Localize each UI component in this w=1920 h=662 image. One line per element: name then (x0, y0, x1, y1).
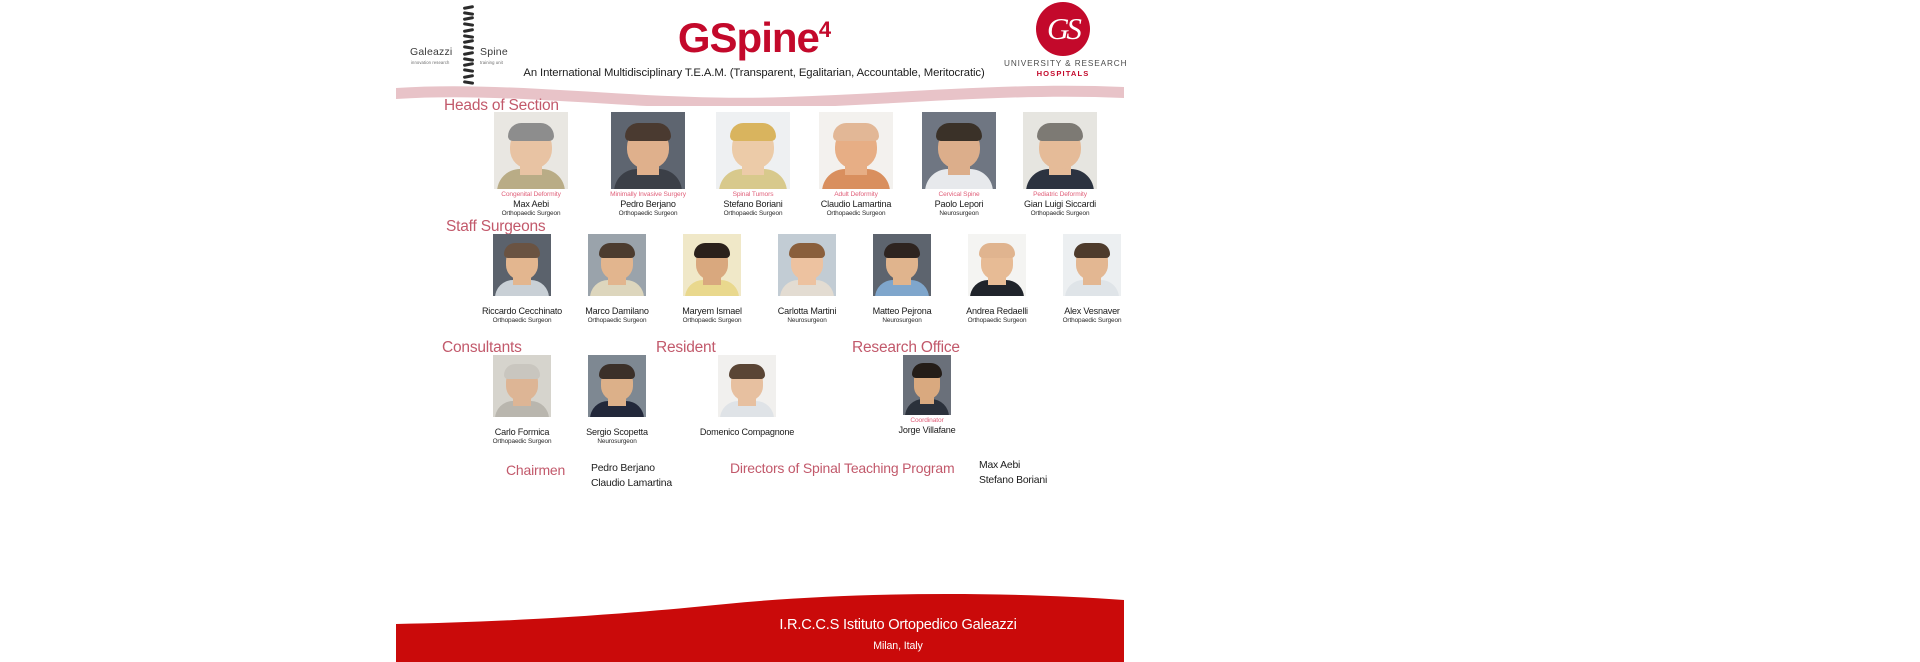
portrait-hair (508, 123, 554, 141)
portrait-hair (599, 243, 635, 258)
portrait-photo (588, 355, 646, 417)
portrait-photo (922, 112, 996, 189)
person-name: Jorge Villafane (866, 425, 988, 435)
portrait-hair (730, 123, 776, 141)
galeazzi-tagline: innovation research (411, 60, 449, 65)
page-title-text: GSpine (678, 14, 819, 61)
university-research-hospitals-logo: GS UNIVERSITY & RESEARCH HOSPITALS (1004, 2, 1122, 82)
portrait-photo (1023, 112, 1097, 189)
directors-names: Max Aebi Stefano Boriani (979, 459, 1047, 488)
chairmen-label: Chairmen (506, 462, 565, 478)
galeazzi-word: Galeazzi (410, 46, 452, 58)
person-specialty: Orthopaedic Surgeon (1026, 317, 1158, 324)
person-specialty: Orthopaedic Surgeon (986, 210, 1134, 217)
spine-tagline: training unit (480, 60, 503, 65)
person-name: Domenico Compagnone (681, 427, 813, 437)
directors-label: Directors of Spinal Teaching Program (730, 460, 954, 476)
person-card[interactable]: Pediatric DeformityGian Luigi SiccardiOr… (986, 112, 1134, 217)
portrait-photo (1063, 234, 1121, 296)
portrait-photo (683, 234, 741, 296)
portrait-hair (625, 123, 671, 141)
spine-vertebrae-icon (461, 6, 475, 84)
portrait-hair (912, 363, 942, 377)
portrait-hair (1037, 123, 1083, 141)
person-role (1026, 298, 1158, 305)
portrait-photo (493, 355, 551, 417)
portrait-hair (694, 243, 730, 258)
person-card[interactable]: Sergio ScopettaNeurosurgeon (551, 355, 683, 445)
portrait-hair (789, 243, 825, 258)
page-title: GSpine4 (514, 4, 994, 64)
title-block: GSpine4 An International Multidisciplina… (514, 4, 994, 79)
person-role (681, 419, 813, 426)
person-card[interactable]: CoordinatorJorge Villafane (866, 355, 988, 435)
person-role: Pediatric Deformity (986, 191, 1134, 198)
chairmen-name: Pedro Berjano (591, 462, 672, 477)
portrait-hair (504, 243, 540, 258)
portrait-hair (504, 364, 540, 379)
person-card[interactable]: Domenico Compagnone (681, 355, 813, 437)
person-role (551, 419, 683, 426)
portrait-hair (833, 123, 879, 141)
page-title-superscript: 4 (819, 17, 830, 42)
portrait-hair (884, 243, 920, 258)
portrait-photo (494, 112, 568, 189)
spine-word: Spine (480, 46, 508, 58)
poster-header: Galeazzi Spine innovation research train… (396, 0, 1124, 92)
portrait-photo (493, 234, 551, 296)
footer-text: I.R.C.C.S Istituto Ortopedico Galeazzi M… (698, 617, 1098, 652)
footer-location: Milan, Italy (698, 640, 1098, 652)
portrait-photo (778, 234, 836, 296)
portrait-photo (903, 355, 951, 415)
poster-sheet: Galeazzi Spine innovation research train… (396, 0, 1124, 662)
page-subtitle: An International Multidisciplinary T.E.A… (514, 67, 994, 79)
gs-monogram-icon: GS (1036, 2, 1090, 56)
portrait-hair (729, 364, 765, 379)
chairmen-name: Claudio Lamartina (591, 477, 672, 492)
university-logo-line2: HOSPITALS (1004, 69, 1122, 78)
chairmen-names: Pedro Berjano Claudio Lamartina (591, 462, 672, 491)
portrait-photo (716, 112, 790, 189)
portrait-photo (873, 234, 931, 296)
portrait-photo (718, 355, 776, 417)
person-role: Coordinator (866, 417, 988, 424)
director-name: Stefano Boriani (979, 474, 1047, 489)
portrait-hair (979, 243, 1015, 258)
portrait-hair (599, 364, 635, 379)
gs-monogram-text: GS (1036, 2, 1090, 56)
galeazzi-spine-logo: Galeazzi Spine innovation research train… (410, 6, 520, 84)
portrait-hair (1074, 243, 1110, 258)
portrait-photo (588, 234, 646, 296)
university-logo-line1: UNIVERSITY & RESEARCH (1004, 59, 1122, 68)
portrait-photo (611, 112, 685, 189)
poster-root: Galeazzi Spine innovation research train… (0, 0, 1920, 662)
person-name: Sergio Scopetta (551, 427, 683, 437)
footer-institution: I.R.C.C.S Istituto Ortopedico Galeazzi (698, 617, 1098, 633)
portrait-hair (936, 123, 982, 141)
person-specialty: Neurosurgeon (551, 438, 683, 445)
director-name: Max Aebi (979, 459, 1047, 474)
person-name: Gian Luigi Siccardi (986, 199, 1134, 209)
person-name: Alex Vesnaver (1026, 306, 1158, 316)
person-card[interactable]: Alex VesnaverOrthopaedic Surgeon (1026, 234, 1158, 324)
portrait-photo (819, 112, 893, 189)
portrait-photo (968, 234, 1026, 296)
